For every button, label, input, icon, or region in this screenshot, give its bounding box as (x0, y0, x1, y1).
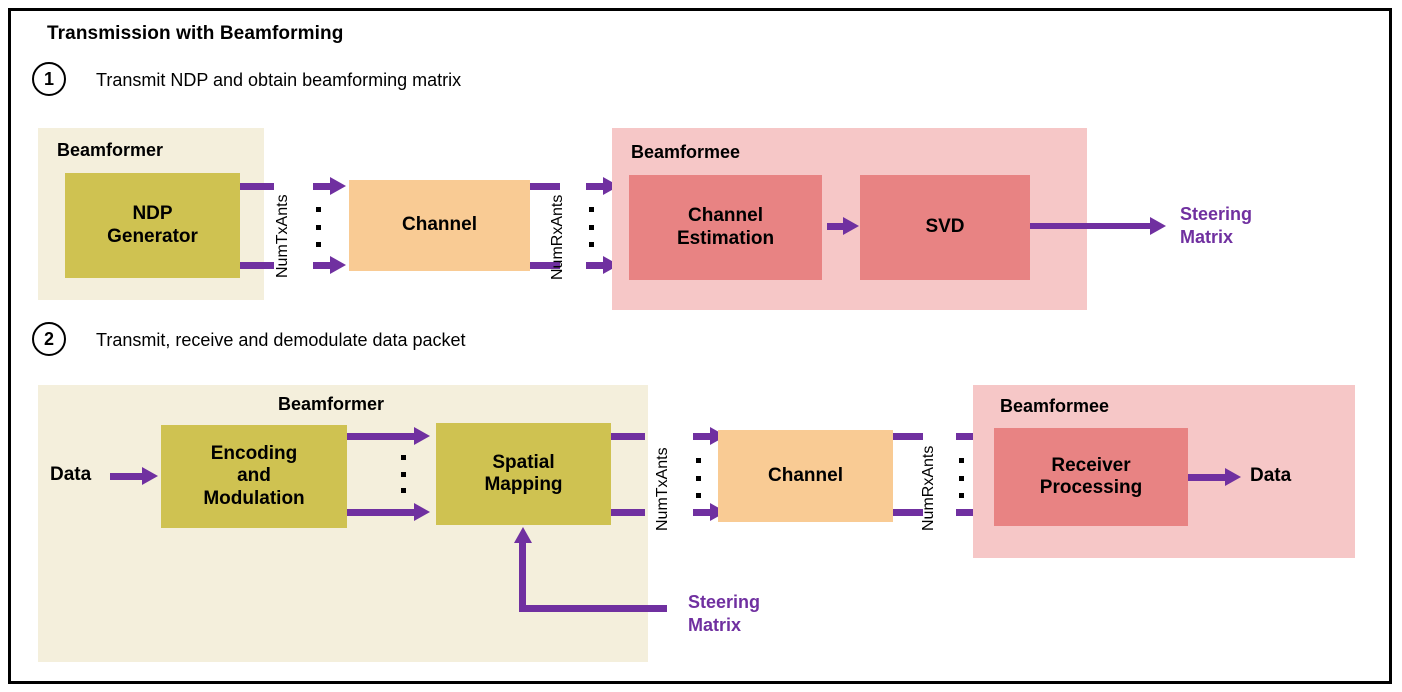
svd-output-line (1030, 223, 1157, 229)
row2-numtxants-label: NumTxAnts (654, 447, 672, 531)
receiver-line1: Receiver (1051, 455, 1130, 477)
step-1-text: Transmit NDP and obtain beamforming matr… (96, 70, 461, 91)
row2-channel-out-stub-top (893, 433, 923, 440)
steering-feedback-horizontal (519, 605, 667, 612)
step-2-badge: 2 (32, 322, 66, 356)
ndp-generator-line1: NDP (132, 203, 172, 225)
svd-output-head (1150, 217, 1166, 235)
row2-steering-line2: Matrix (688, 614, 760, 637)
encoding-line1: Encoding (211, 443, 298, 465)
row1-tx-arrow-bottom-head (330, 256, 346, 274)
row1-beamformer-label: Beamformer (57, 140, 163, 161)
row2-data-input-label: Data (50, 464, 91, 486)
row2-encoding-ellipsis (400, 455, 406, 493)
row1-channel-out-stub-top (530, 183, 560, 190)
encoding-modulation-block: Encoding and Modulation (161, 425, 347, 528)
encoding-out-top-line (347, 433, 417, 440)
spatial-mapping-block: Spatial Mapping (436, 423, 611, 525)
channel-estimation-line1: Channel (688, 205, 763, 227)
row1-rx-ellipsis (588, 207, 594, 247)
page-title: Transmission with Beamforming (47, 23, 343, 45)
receiver-line2: Processing (1040, 477, 1142, 499)
row2-steering-line1: Steering (688, 591, 760, 614)
encoding-out-top-head (414, 427, 430, 445)
row1-beamformee-label: Beamformee (631, 142, 740, 163)
row1-steering-line1: Steering (1180, 203, 1252, 226)
row1-steering-line2: Matrix (1180, 226, 1252, 249)
row1-tx-arrow-top-head (330, 177, 346, 195)
ndp-out-stub-bottom (240, 262, 274, 269)
encoding-line2: and (237, 465, 271, 487)
receiver-output-line (1188, 474, 1230, 481)
receiver-processing-block: Receiver Processing (994, 428, 1188, 526)
ndp-out-stub-top (240, 183, 274, 190)
receiver-output-head (1225, 468, 1241, 486)
estimation-to-svd-head (843, 217, 859, 235)
row2-rx-ellipsis (958, 458, 964, 498)
spatial-line1: Spatial (492, 452, 554, 474)
encoding-out-bottom-head (414, 503, 430, 521)
row1-channel-block: Channel (349, 180, 530, 271)
diagram-canvas: Transmission with Beamforming 1 Transmit… (0, 0, 1402, 692)
encoding-line3: Modulation (203, 488, 304, 510)
data-input-head (142, 467, 158, 485)
steering-feedback-vertical (519, 542, 526, 612)
steering-feedback-arrow-head (514, 527, 532, 543)
row1-numrxants-label: NumRxAnts (549, 195, 567, 280)
row2-beamformer-label: Beamformer (278, 394, 384, 415)
svd-block: SVD (860, 175, 1030, 280)
row1-tx-ellipsis (315, 207, 321, 247)
row2-steering-matrix-feedback: Steering Matrix (688, 591, 760, 636)
row2-beamformee-label: Beamformee (1000, 396, 1109, 417)
data-input-line (110, 473, 146, 480)
spatial-line2: Mapping (484, 474, 562, 496)
row2-numrxants-label: NumRxAnts (920, 446, 938, 531)
ndp-generator-block: NDP Generator (65, 173, 240, 278)
row2-channel-block: Channel (718, 430, 893, 522)
row2-tx-ellipsis (695, 458, 701, 498)
row2-data-output-label: Data (1250, 465, 1291, 487)
step-2-text: Transmit, receive and demodulate data pa… (96, 330, 466, 351)
step-1-badge: 1 (32, 62, 66, 96)
channel-estimation-line2: Estimation (677, 228, 774, 250)
encoding-out-bottom-line (347, 509, 417, 516)
row2-channel-out-stub-bottom (893, 509, 923, 516)
ndp-generator-line2: Generator (107, 226, 198, 248)
spatial-out-stub-top (611, 433, 645, 440)
channel-estimation-block: Channel Estimation (629, 175, 822, 280)
spatial-out-stub-bottom (611, 509, 645, 516)
row1-numtxants-label: NumTxAnts (274, 194, 292, 278)
row1-steering-matrix-output: Steering Matrix (1180, 203, 1252, 248)
